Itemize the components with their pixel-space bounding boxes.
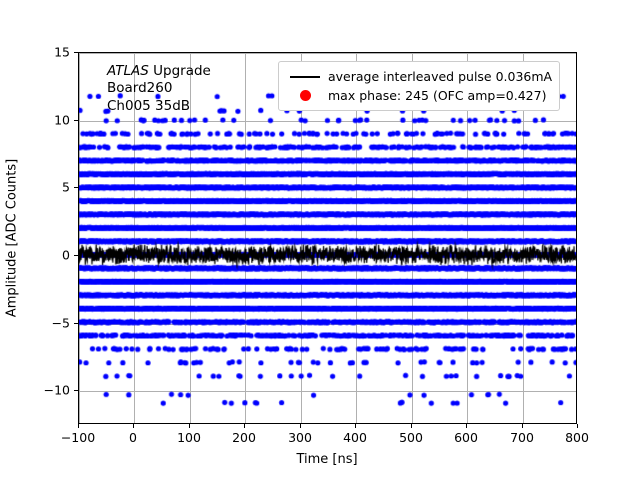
x-tick-mark — [300, 424, 301, 428]
x-tick-label: 600 — [454, 430, 478, 445]
x-tick-label: 700 — [510, 430, 534, 445]
x-tick-mark — [411, 424, 412, 428]
plot-area: ATLAS Upgrade Board260 Ch005 35dB averag… — [78, 52, 577, 424]
plot-annotation: ATLAS Upgrade Board260 Ch005 35dB — [107, 63, 211, 115]
x-tick-mark — [244, 424, 245, 428]
legend-label-average-pulse: average interleaved pulse 0.036mA — [324, 69, 552, 84]
x-tick-label: 400 — [343, 430, 367, 445]
y-tick-label: 0 — [62, 248, 70, 263]
y-tick-label: 10 — [54, 113, 70, 128]
upgrade-label: Upgrade — [149, 63, 211, 79]
annotation-line-1: ATLAS Upgrade — [107, 63, 211, 80]
x-tick-mark — [577, 424, 578, 428]
annotation-line-3: Ch005 35dB — [107, 98, 211, 115]
x-tick-label: 0 — [129, 430, 137, 445]
y-tick-label: −10 — [44, 383, 70, 398]
x-tick-mark — [133, 424, 134, 428]
legend-label-max-phase: max phase: 245 (OFC amp=0.427) — [324, 88, 546, 103]
x-axis-label: Time [ns] — [296, 452, 357, 467]
x-tick-mark — [189, 424, 190, 428]
figure-canvas: Amplitude [ADC Counts] Time [ns] −100010… — [0, 0, 640, 480]
legend-dot-swatch — [286, 90, 324, 101]
x-tick-mark — [466, 424, 467, 428]
x-tick-mark — [522, 424, 523, 428]
x-tick-label: 500 — [399, 430, 423, 445]
annotation-line-2: Board260 — [107, 80, 211, 97]
atlas-label: ATLAS — [107, 63, 149, 79]
y-tick-label: 5 — [62, 180, 70, 195]
x-tick-label: 300 — [288, 430, 312, 445]
x-tick-label: −100 — [61, 430, 95, 445]
legend-box: average interleaved pulse 0.036mA max ph… — [278, 61, 560, 111]
x-tick-label: 200 — [232, 430, 256, 445]
legend-line-swatch — [286, 76, 324, 78]
legend-item-max-phase: max phase: 245 (OFC amp=0.427) — [286, 86, 552, 105]
y-tick-label: 15 — [54, 45, 70, 60]
x-tick-label: 100 — [177, 430, 201, 445]
x-tick-label: 800 — [565, 430, 589, 445]
legend-item-average-pulse: average interleaved pulse 0.036mA — [286, 67, 552, 86]
x-tick-mark — [355, 424, 356, 428]
y-axis-label: Amplitude [ADC Counts] — [5, 159, 20, 317]
y-tick-label: −5 — [52, 316, 70, 331]
x-tick-mark — [78, 424, 79, 428]
